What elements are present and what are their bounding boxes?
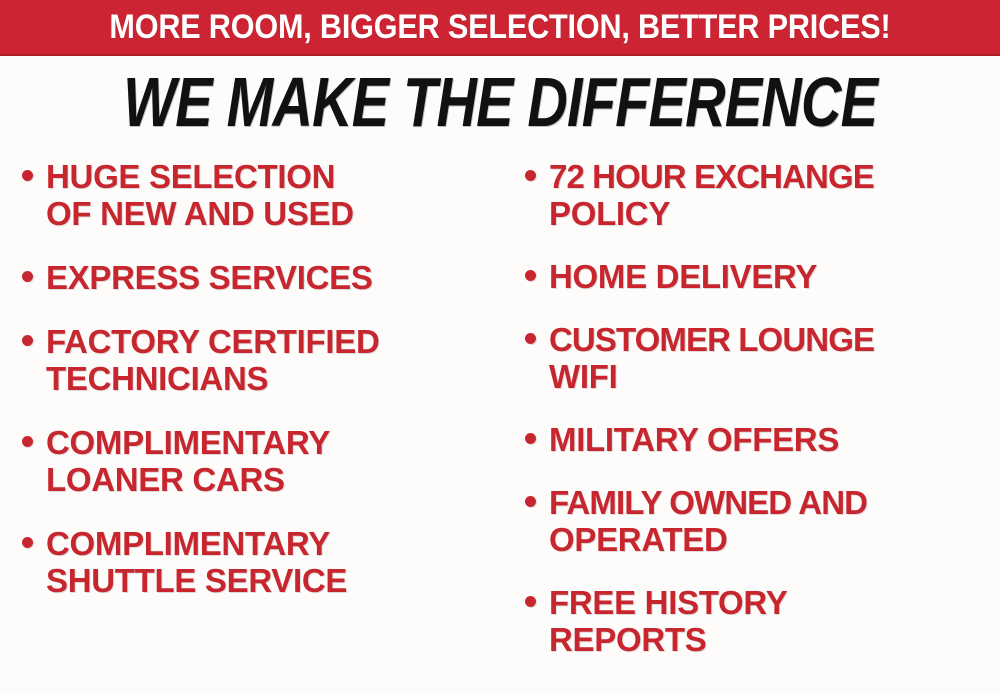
bullet-dot-icon <box>22 335 33 346</box>
list-item-label: FREE HISTORY REPORTS <box>549 584 787 658</box>
list-item-label: HOME DELIVERY <box>549 258 817 295</box>
list-item: COMPLIMENTARY LOANER CARS <box>22 424 494 498</box>
features-columns: HUGE SELECTION OF NEW AND USED EXPRESS S… <box>0 158 1000 688</box>
bullet-dot-icon <box>525 333 536 344</box>
list-item-line: MILITARY OFFERS <box>549 421 839 458</box>
list-item-line: WIFI <box>549 358 874 395</box>
list-item-line: TECHNICIANS <box>46 360 380 397</box>
features-column-left: HUGE SELECTION OF NEW AND USED EXPRESS S… <box>0 158 500 626</box>
list-item-line: OF NEW AND USED <box>46 195 354 232</box>
list-item-label: EXPRESS SERVICES <box>46 259 373 296</box>
list-item-label: CUSTOMER LOUNGE WIFI <box>549 321 874 395</box>
list-item: COMPLIMENTARY SHUTTLE SERVICE <box>22 525 494 599</box>
list-item: FAMILY OWNED AND OPERATED <box>525 484 994 558</box>
features-column-right: 72 HOUR EXCHANGE POLICY HOME DELIVERY CU… <box>500 158 1000 684</box>
list-item-line: COMPLIMENTARY <box>46 424 330 461</box>
bullet-dot-icon <box>525 433 536 444</box>
list-item: FACTORY CERTIFIED TECHNICIANS <box>22 323 494 397</box>
list-item-line: OPERATED <box>549 521 867 558</box>
list-item-line: 72 HOUR EXCHANGE <box>549 158 874 195</box>
bullet-dot-icon <box>22 436 33 447</box>
list-item: HUGE SELECTION OF NEW AND USED <box>22 158 494 232</box>
bullet-dot-icon <box>525 496 536 507</box>
list-item-label: COMPLIMENTARY SHUTTLE SERVICE <box>46 525 347 599</box>
list-item-label: HUGE SELECTION OF NEW AND USED <box>46 158 354 232</box>
list-item-label: MILITARY OFFERS <box>549 421 839 458</box>
list-item-line: REPORTS <box>549 621 787 658</box>
list-item-line: FACTORY CERTIFIED <box>46 323 380 360</box>
list-item-line: HUGE SELECTION <box>46 158 354 195</box>
list-item: HOME DELIVERY <box>525 258 994 295</box>
bullet-dot-icon <box>525 270 536 281</box>
headline-container: WE MAKE THE DIFFERENCE <box>0 60 1000 144</box>
list-item-label: FAMILY OWNED AND OPERATED <box>549 484 867 558</box>
promo-banner: MORE ROOM, BIGGER SELECTION, BETTER PRIC… <box>0 0 1000 56</box>
bullet-dot-icon <box>22 170 33 181</box>
bullet-dot-icon <box>525 596 536 607</box>
list-item: 72 HOUR EXCHANGE POLICY <box>525 158 994 232</box>
list-item-line: LOANER CARS <box>46 461 330 498</box>
list-item-line: POLICY <box>549 195 874 232</box>
list-item-line: COMPLIMENTARY <box>46 525 347 562</box>
list-item-line: HOME DELIVERY <box>549 258 817 295</box>
list-item-line: FREE HISTORY <box>549 584 787 621</box>
list-item-line: CUSTOMER LOUNGE <box>549 321 874 358</box>
list-item: EXPRESS SERVICES <box>22 259 494 296</box>
list-item-label: 72 HOUR EXCHANGE POLICY <box>549 158 874 232</box>
list-item-label: COMPLIMENTARY LOANER CARS <box>46 424 330 498</box>
list-item-line: FAMILY OWNED AND <box>549 484 867 521</box>
page-title: WE MAKE THE DIFFERENCE <box>123 67 877 137</box>
advertisement-banner: MORE ROOM, BIGGER SELECTION, BETTER PRIC… <box>0 0 1000 694</box>
list-item-label: FACTORY CERTIFIED TECHNICIANS <box>46 323 380 397</box>
list-item-line: SHUTTLE SERVICE <box>46 562 347 599</box>
bullet-dot-icon <box>22 537 33 548</box>
list-item-line: EXPRESS SERVICES <box>46 259 373 296</box>
list-item: FREE HISTORY REPORTS <box>525 584 994 658</box>
list-item: CUSTOMER LOUNGE WIFI <box>525 321 994 395</box>
bullet-dot-icon <box>525 170 536 181</box>
list-item: MILITARY OFFERS <box>525 421 994 458</box>
bullet-dot-icon <box>22 271 33 282</box>
promo-banner-text: MORE ROOM, BIGGER SELECTION, BETTER PRIC… <box>109 10 890 44</box>
